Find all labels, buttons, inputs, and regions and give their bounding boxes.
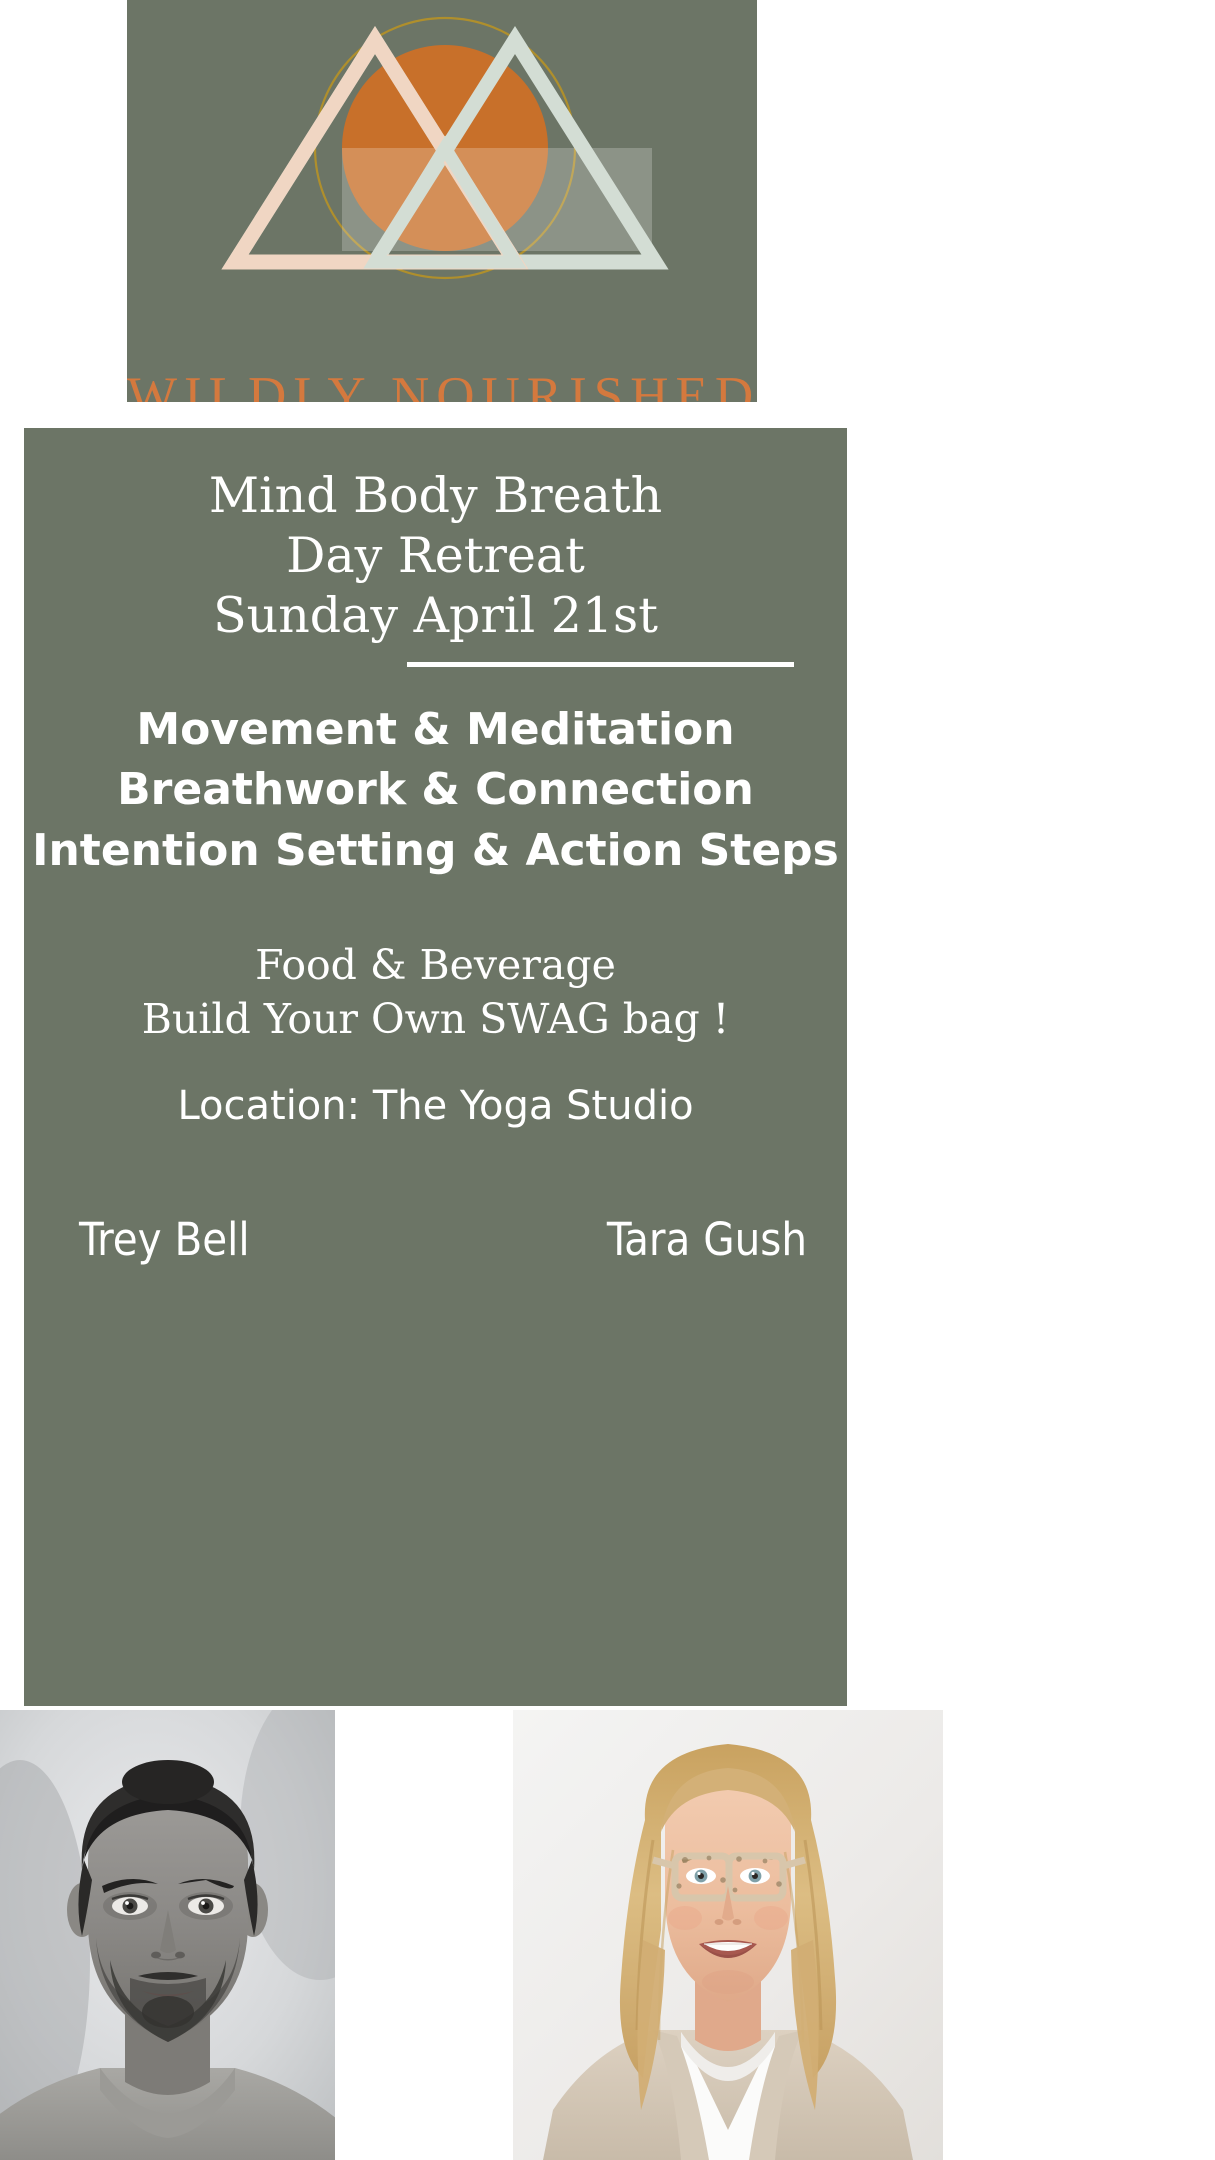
brand-wordmark: WILDLY NOURISHED: [127, 366, 757, 402]
divider-rule: [407, 662, 794, 667]
activity-line-3: Intention Setting & Action Steps: [24, 821, 847, 881]
heading-line-1: Mind Body Breath: [24, 466, 847, 526]
extras-line-1: Food & Beverage: [24, 938, 847, 992]
presenter-name-left: Trey Bell: [79, 1213, 250, 1266]
activities-list: Movement & Meditation Breathwork & Conne…: [24, 700, 847, 881]
heading-line-2: Day Retreat: [24, 526, 847, 586]
event-panel: Mind Body Breath Day Retreat Sunday Apri…: [24, 428, 847, 1706]
flyer-page: WILDLY NOURISHED Mind Body Breath Day Re…: [0, 0, 1215, 2160]
activity-line-1: Movement & Meditation: [24, 700, 847, 760]
heading-line-3: Sunday April 21st: [24, 586, 847, 646]
extras-line-2: Build Your Own SWAG bag !: [24, 992, 847, 1046]
presenter-name-right: Tara Gush: [607, 1213, 807, 1266]
logo-block: WILDLY NOURISHED: [127, 0, 757, 402]
presenter-names: Trey Bell Tara Gush: [24, 1213, 847, 1273]
logo-mark-icon: [127, 0, 757, 300]
presenter-photo-right: [513, 1710, 943, 2160]
event-heading: Mind Body Breath Day Retreat Sunday Apri…: [24, 466, 847, 645]
extras-list: Food & Beverage Build Your Own SWAG bag …: [24, 938, 847, 1046]
activity-line-2: Breathwork & Connection: [24, 760, 847, 820]
location-text: Location: The Yoga Studio: [24, 1083, 847, 1129]
presenter-photo-left: [0, 1710, 335, 2160]
